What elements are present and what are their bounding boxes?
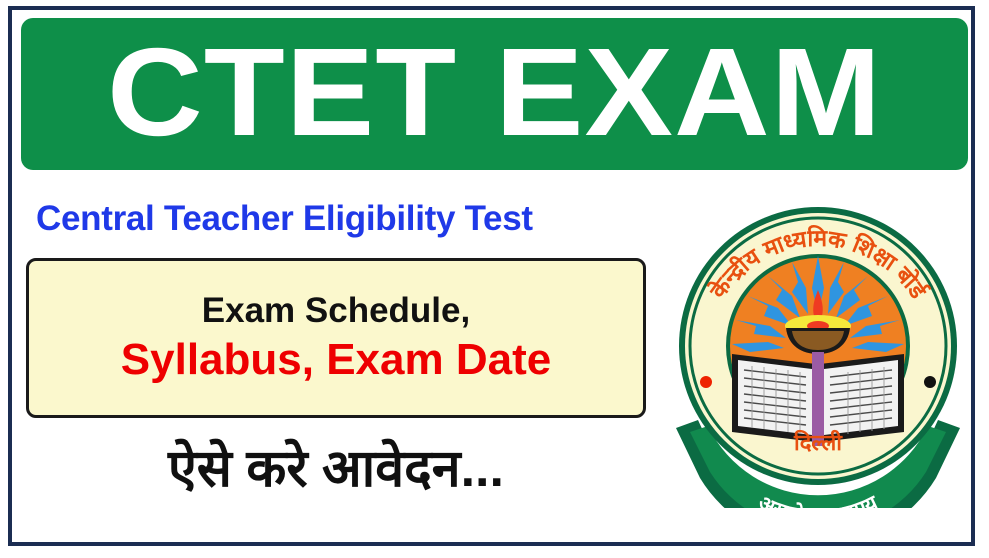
logo-right-dot (924, 376, 936, 388)
logo-city-text: दिल्ली (793, 429, 843, 455)
hindi-cta-text: ऐसे करे आवेदन... (26, 440, 646, 500)
cbse-logo: केन्द्रीय माध्यमिक शिक्षा बोर्ड दिल्ली अ… (668, 196, 968, 508)
info-box: Exam Schedule, Syllabus, Exam Date (26, 258, 646, 418)
banner-title: CTET EXAM (107, 30, 882, 155)
header-banner: CTET EXAM (21, 18, 968, 170)
subtitle-text: Central Teacher Eligibility Test (36, 198, 533, 240)
info-box-line-2: Syllabus, Exam Date (121, 336, 551, 384)
logo-left-dot (700, 376, 712, 388)
poster-root: CTET EXAM Central Teacher Eligibility Te… (0, 0, 989, 558)
info-box-line-1: Exam Schedule, (202, 292, 470, 331)
